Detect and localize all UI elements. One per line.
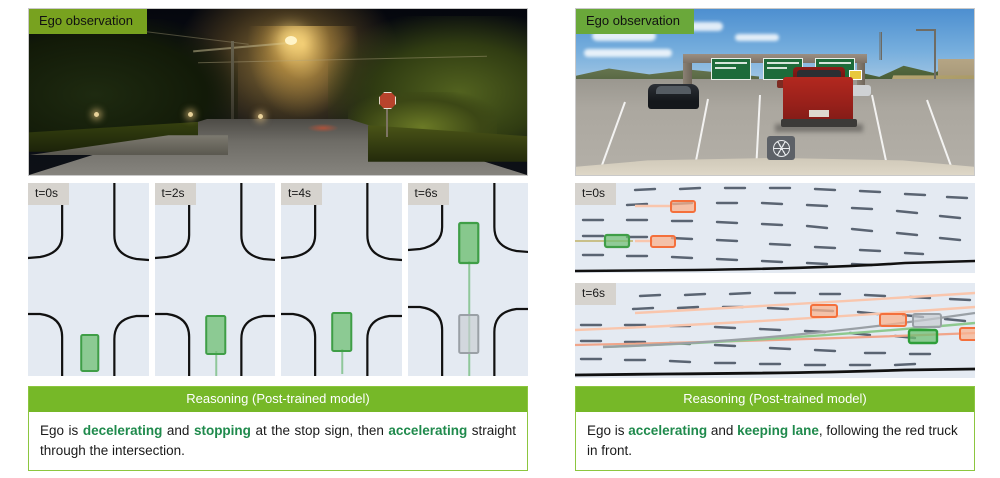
right-ego-observation-panel: Ego observation	[575, 8, 975, 176]
truck-rear-bumper	[781, 119, 857, 127]
figure-root: Ego observation t=0s	[0, 0, 1000, 478]
cloud	[735, 34, 779, 41]
streetlight-lamp	[285, 36, 297, 45]
left-reasoning-card: Reasoning (Post-trained model) Ego is de…	[28, 386, 528, 471]
left-ego-observation-panel: Ego observation	[28, 8, 528, 176]
bev-frame-t6: t=6s	[408, 183, 529, 376]
right-bev-frame-t6-diagram	[575, 283, 975, 378]
bev-frame-t2: t=2s	[155, 183, 276, 376]
highway-lamppost	[934, 29, 936, 79]
bev-frame-t2-diagram	[155, 183, 276, 376]
bev-frame-t0-time-label: t=0s	[28, 183, 69, 205]
hood-emblem-mount	[767, 136, 795, 160]
distant-street-light	[258, 114, 263, 119]
left-reasoning-text: Ego is decelerating and stopping at the …	[29, 412, 527, 460]
stop-sign-post	[386, 107, 388, 137]
sedan-rear-window	[656, 86, 692, 94]
bev-frame-t4: t=4s	[281, 183, 402, 376]
bev-frame-t2-time-label: t=2s	[155, 183, 196, 205]
truck-license-plate	[809, 110, 829, 117]
right-bev-frame-t0-time-label: t=0s	[575, 183, 616, 205]
reasoning-highlight-accelerating: accelerating	[628, 423, 707, 438]
bev-frame-t4-time-label: t=4s	[281, 183, 322, 205]
cloud	[584, 49, 672, 57]
reasoning-highlight-decelerating: decelerating	[83, 423, 163, 438]
right-bev-frame-t6: t=6s	[575, 283, 975, 378]
bev-frame-t0-diagram	[28, 183, 149, 376]
right-reasoning-card: Reasoning (Post-trained model) Ego is ac…	[575, 386, 975, 471]
right-reasoning-text: Ego is accelerating and keeping lane, fo…	[576, 412, 974, 460]
bev-frame-t6-time-label: t=6s	[408, 183, 449, 205]
right-bev-frame-t6-time-label: t=6s	[575, 283, 616, 305]
right-bev-frame-t0: t=0s	[575, 183, 975, 273]
overhead-sign-left	[711, 58, 751, 80]
left-reasoning-header: Reasoning (Post-trained model)	[29, 387, 527, 412]
reasoning-segment: and	[707, 423, 737, 438]
bev-frame-t4-diagram	[281, 183, 402, 376]
reasoning-highlight-stopping: stopping	[194, 423, 251, 438]
reasoning-segment: and	[162, 423, 194, 438]
right-reasoning-header: Reasoning (Post-trained model)	[576, 387, 974, 412]
reasoning-segment: at the stop sign, then	[251, 423, 388, 438]
right-ego-observation-badge: Ego observation	[576, 9, 694, 34]
transmission-tower	[876, 32, 885, 60]
bev-frame-t0: t=0s	[28, 183, 149, 376]
white-car-right-lane	[851, 85, 871, 97]
distant-vehicle-lights	[308, 124, 338, 132]
reasoning-highlight-keeping-lane: keeping lane	[737, 423, 819, 438]
reasoning-segment: Ego is	[587, 423, 628, 438]
reasoning-highlight-accelerating: accelerating	[388, 423, 467, 438]
highway-lamppost-arm	[916, 29, 936, 31]
bev-frame-t6-diagram	[408, 183, 529, 376]
left-bev-sequence: t=0s t=2s	[28, 183, 528, 376]
reasoning-segment: Ego is	[40, 423, 83, 438]
left-ego-observation-badge: Ego observation	[29, 9, 147, 34]
mercedes-star-icon	[773, 140, 790, 157]
distant-porch-light	[94, 112, 99, 117]
right-bev-frame-t0-diagram	[575, 183, 975, 273]
